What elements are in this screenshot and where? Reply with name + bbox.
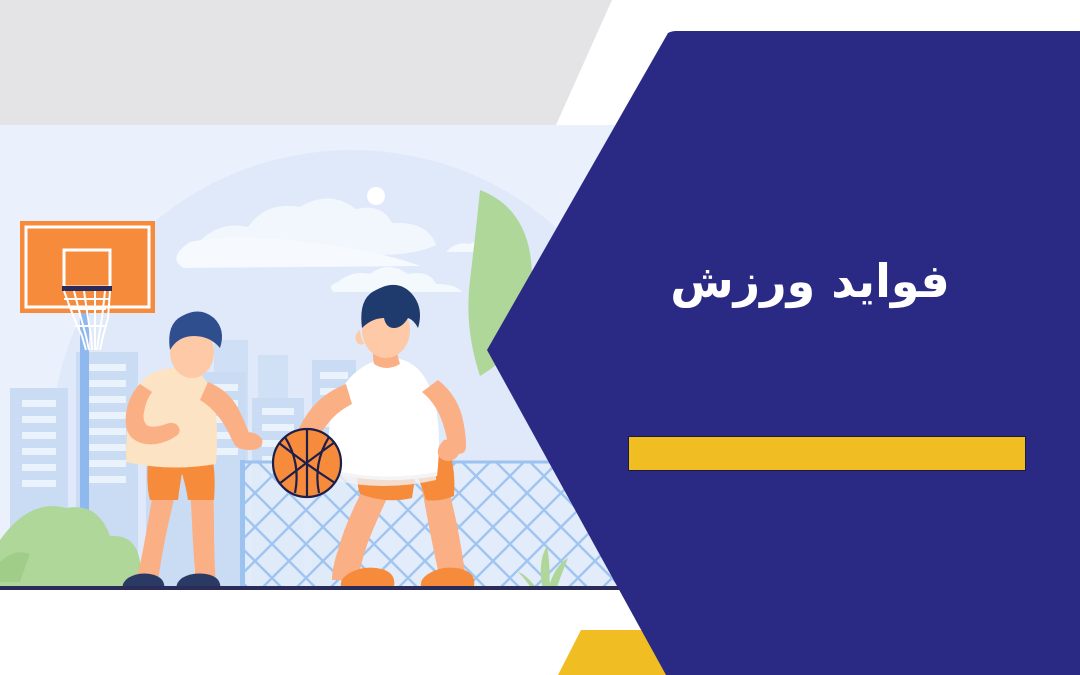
- decorative-shapes: [0, 0, 1080, 675]
- slide-canvas: فواید ورزش: [0, 0, 1080, 675]
- subtitle-bar-label: [629, 437, 1025, 470]
- subtitle-bar[interactable]: [628, 436, 1026, 471]
- navy-hexagon-panel: [487, 31, 1080, 675]
- top-gray-band: [0, 0, 612, 125]
